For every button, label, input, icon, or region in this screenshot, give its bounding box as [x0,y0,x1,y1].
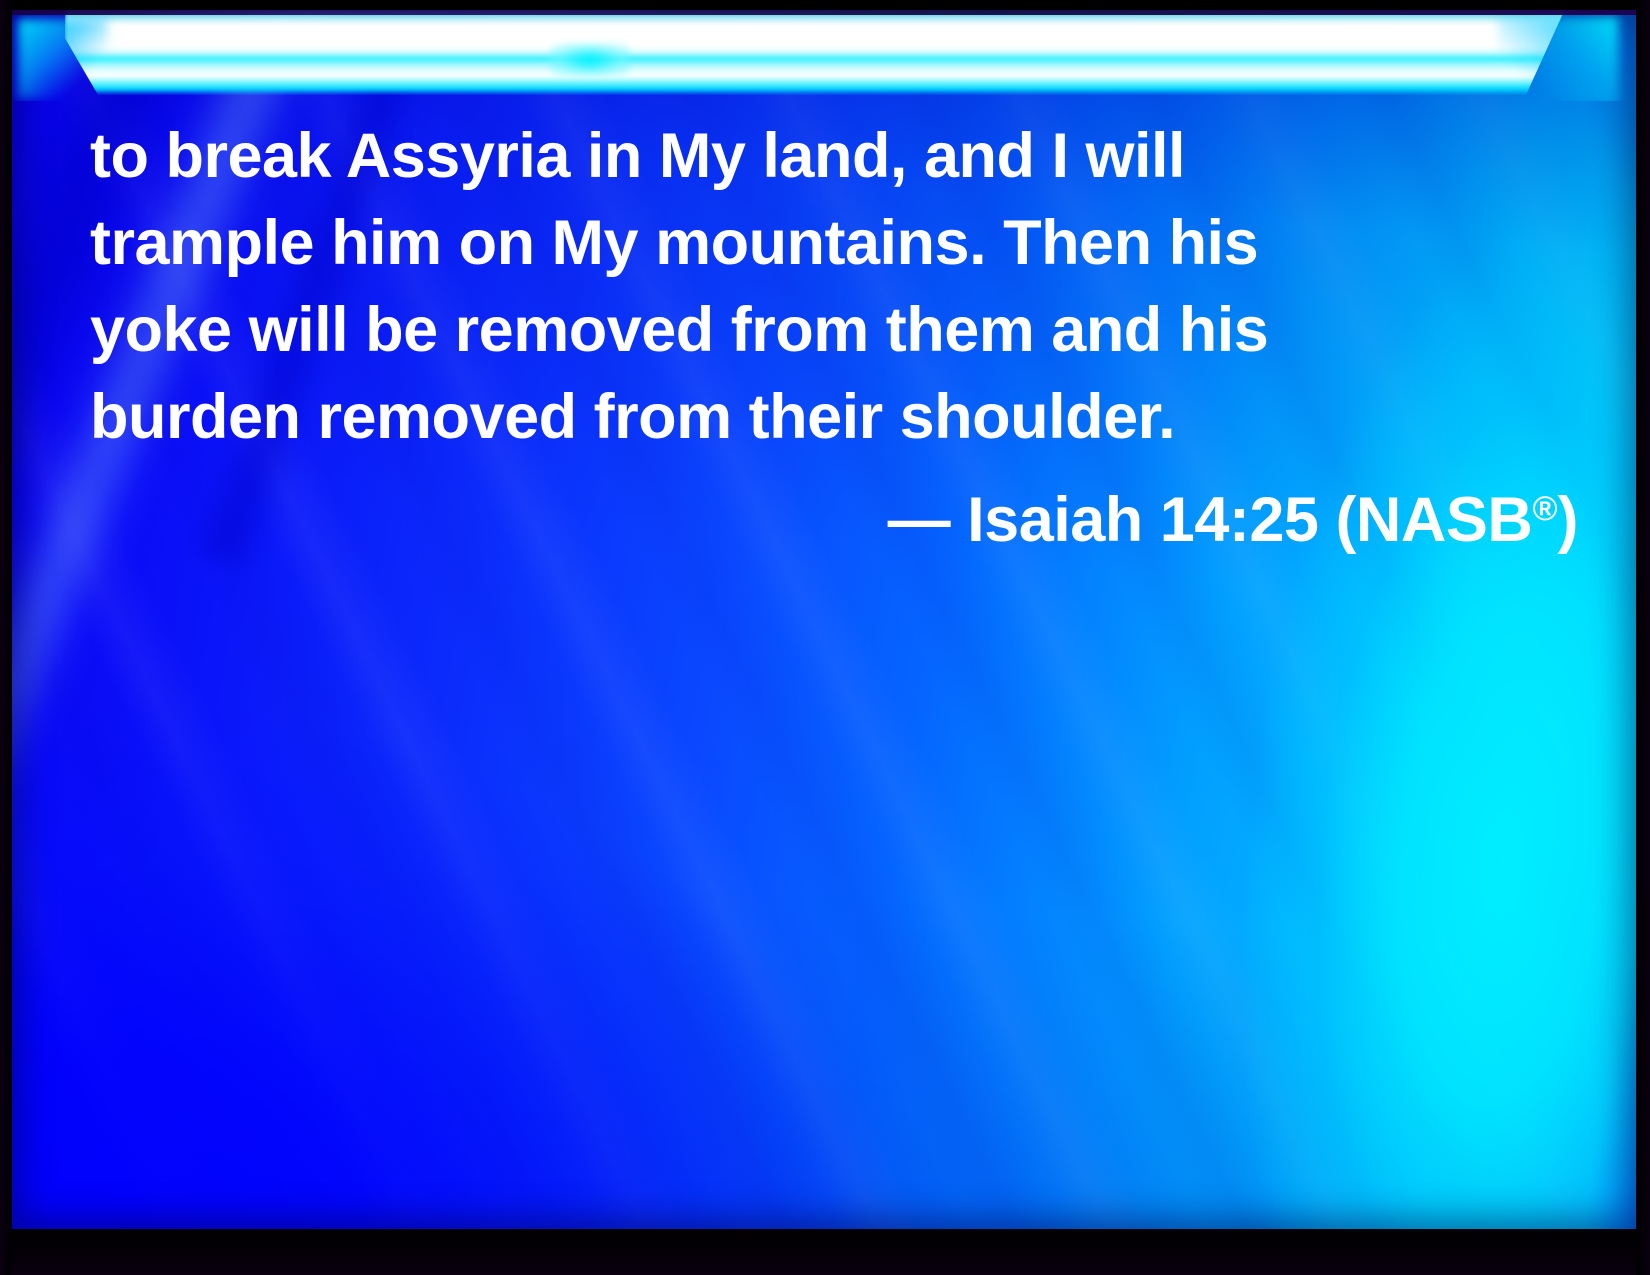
banner-top-dark-edge [10,9,1638,15]
banner-cyan-highlight [550,43,630,77]
attribution-spacer-3 [1318,485,1335,555]
banner-left-bevel [18,19,108,99]
registered-trademark-icon: ® [1532,490,1557,528]
attribution-spacer-1 [950,485,967,555]
verse-line-1: to break Assyria in My land, and I will [90,113,1590,200]
verse-line-2: trample him on My mountains. Then his [90,200,1590,287]
attribution-spacer-2 [1143,485,1160,555]
attribution-em-dash: — [888,485,951,555]
attribution-reference: 14:25 [1160,485,1319,555]
background-canvas: to break Assyria in My land, and I will … [10,9,1638,1229]
attribution-translation: NASB [1356,485,1533,555]
scripture-slide: to break Assyria in My land, and I will … [0,0,1650,1275]
attribution-close-paren: ) [1558,485,1578,555]
verse-line-3: yoke will be removed from them and his [90,287,1590,374]
attribution-book: Isaiah [967,485,1143,555]
attribution-open-paren: ( [1335,485,1355,555]
verse-text-block: to break Assyria in My land, and I will … [90,113,1590,564]
verse-attribution: — Isaiah 14:25 (NASB®) [90,466,1590,564]
banner-core-glow [65,9,1565,95]
frame-right-border [1636,0,1650,1275]
verse-line-4: burden removed from their shoulder. [90,374,1590,461]
top-glow-banner [10,9,1638,101]
banner-right-bevel [1498,17,1618,101]
frame-bottom-border [0,1229,1650,1275]
